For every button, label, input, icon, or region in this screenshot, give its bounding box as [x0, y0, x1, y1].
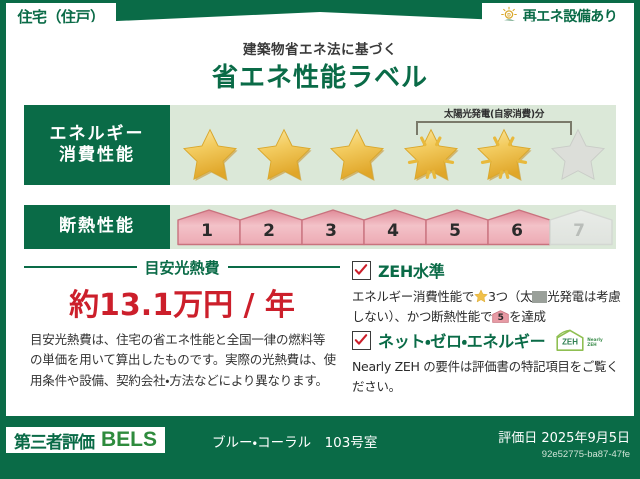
insulation-label-text: 断熱性能: [59, 216, 135, 237]
zeh-desc-part4: を達成: [509, 309, 546, 324]
energy-performance-row: エネルギー 消費性能 太陽光発電(自家消費)分: [24, 105, 616, 185]
estimated-cost-heading: 目安光熱費: [24, 258, 340, 276]
bels-badge: 第三者評価 BELS: [6, 427, 165, 453]
insulation-performance-label: 断熱性能: [24, 205, 170, 249]
insulation-level-badge: 5: [492, 310, 509, 323]
zeh-standard-checkbox: [352, 261, 371, 280]
insulation-level-number: 4: [387, 223, 399, 244]
solar-bracket-caption: 太陽光発電(自家消費)分: [406, 106, 582, 120]
star-icon: [474, 289, 488, 303]
star-3: [323, 125, 391, 183]
star-filled-icon: [250, 125, 318, 183]
zeh-net-title: ネット・ゼロ・エネルギー: [378, 328, 545, 352]
energy-performance-value: 太陽光発電(自家消費)分: [170, 105, 616, 185]
star-filled-icon: [397, 125, 465, 183]
energy-performance-label: エネルギー 消費性能: [24, 105, 170, 185]
insulation-level-6: 6: [486, 208, 548, 246]
insulation-badge-number: 5: [492, 310, 509, 323]
energy-label-line1: エネルギー: [50, 124, 145, 145]
insulation-level-number: 1: [201, 223, 213, 244]
insulation-level-number: 3: [325, 223, 337, 244]
zeh-desc-part2: 3つ（太: [488, 289, 532, 304]
zeh-net-description: Nearly ZEH の要件は評価書の特記項目をご覧ください。: [352, 357, 624, 398]
estimated-cost-note: 目安光熱費は、住宅の省エネ性能と全国一律の燃料等の単価を用いて算出したものです。…: [30, 330, 336, 391]
zeh-desc-part1: エネルギー消費性能で: [352, 289, 474, 304]
star-6: [544, 125, 612, 183]
star-rating: [176, 127, 612, 181]
third-party-eval-label: 第三者評価: [14, 428, 94, 453]
star-empty-icon: [544, 125, 612, 183]
estimated-cost-label: 目安光熱費: [145, 257, 220, 278]
insulation-level-number: 6: [511, 223, 523, 244]
energy-label-root: 住宅（住戸） D 再エネ設備あり: [0, 0, 640, 479]
zeh-net-block: ネット・ゼロ・エネルギー ZEH Nearly ZEH Nearly ZEH の…: [352, 328, 624, 398]
insulation-level-number: 7: [573, 223, 585, 244]
svg-text:D: D: [507, 13, 511, 19]
svg-text:ZEH: ZEH: [562, 337, 578, 346]
bels-scheme-label: BELS: [101, 428, 157, 452]
heading-rule-left: [24, 266, 137, 268]
heading-rule-right: [228, 266, 341, 268]
evaluation-date: 評価日 2025年9月5日: [498, 427, 630, 446]
zeh-net-heading: ネット・ゼロ・エネルギー ZEH Nearly ZEH: [352, 328, 624, 352]
zeh-standard-heading: ZEH水準: [352, 258, 624, 282]
star-5: [470, 125, 538, 183]
insulation-level-3: 3: [300, 208, 362, 246]
redaction-block: [532, 291, 547, 303]
zeh-badge-sub-line2: ZEH: [587, 342, 596, 347]
evaluation-id: 92e52775-ba87-47fe: [542, 449, 630, 460]
estimated-cost-value: 約13.1万円 / 年: [24, 280, 340, 324]
insulation-level-5: 5: [424, 208, 486, 246]
star-1: [176, 125, 244, 183]
insulation-performance-value: 1234567: [170, 205, 616, 249]
insulation-level-scale: 1234567: [176, 208, 610, 246]
insulation-level-number: 5: [449, 223, 461, 244]
insulation-level-2: 2: [238, 208, 300, 246]
zeh-standard-title: ZEH水準: [378, 258, 444, 282]
star-filled-icon: [323, 125, 391, 183]
insulation-performance-row: 断熱性能 1234567: [24, 205, 616, 249]
insulation-level-number: 2: [263, 223, 275, 244]
star-2: [250, 125, 318, 183]
zeh-badge-icon: ZEH Nearly ZEH: [555, 328, 602, 352]
star-filled-icon: [176, 125, 244, 183]
star-4: [397, 125, 465, 183]
zeh-standard-description: エネルギー消費性能で3つ（太光発電は考慮しない）、かつ断熱性能で5を達成: [352, 287, 624, 328]
zeh-standard-block: ZEH水準 エネルギー消費性能で3つ（太光発電は考慮しない）、かつ断熱性能で5を…: [352, 258, 624, 328]
insulation-level-4: 4: [362, 208, 424, 246]
insulation-level-1: 1: [176, 208, 238, 246]
property-name: ブルー・コーラル 103号室: [212, 431, 377, 451]
label-title: 省エネ性能ラベル: [0, 57, 640, 94]
insulation-level-7: 7: [548, 208, 610, 246]
column-divider: [344, 256, 346, 396]
label-subtitle: 建築物省エネ法に基づく: [0, 38, 640, 58]
energy-label-line2: 消費性能: [59, 145, 135, 166]
star-filled-icon: [470, 125, 538, 183]
zeh-badge-subtext: Nearly ZEH: [587, 338, 602, 352]
zeh-net-checkbox: [352, 331, 371, 350]
